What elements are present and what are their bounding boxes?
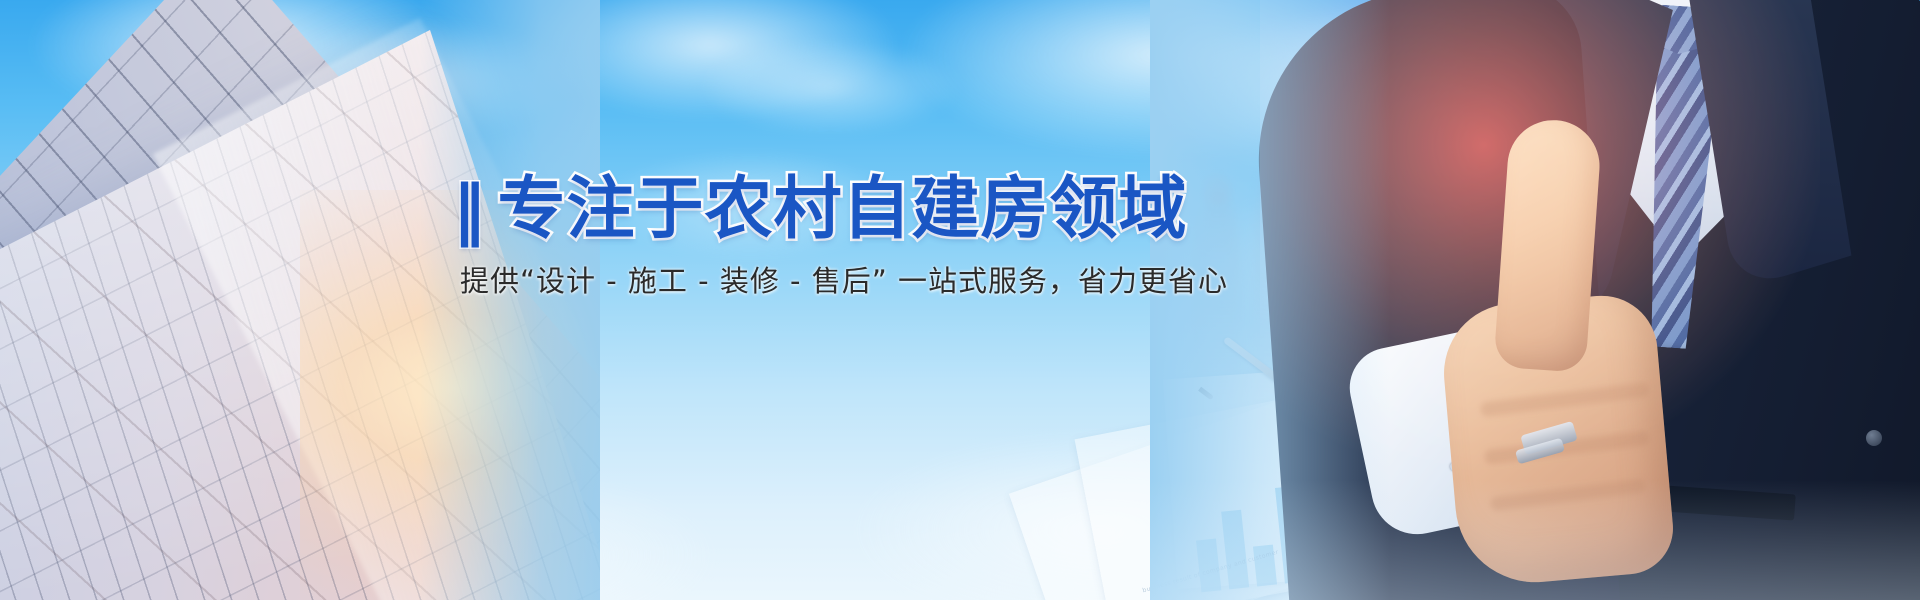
promo-banner: business result of company and customer … [0,0,1920,600]
cloud-shape [700,40,960,135]
suit-button [1866,430,1882,446]
page-title: 专注于农村自建房领域 [498,176,1188,244]
businessman-photo [1150,0,1920,600]
banner-copy-block: ‖ 专注于农村自建房领域 提供“设计 - 施工 - 装修 - 售后” 一站式服务… [460,176,1180,299]
double-bar-mark-icon: ‖ [453,177,484,243]
building-fade-mask [420,0,600,600]
banner-subtitle: 提供“设计 - 施工 - 装修 - 售后” 一站式服务，省力更省心 [460,264,1180,299]
skyscraper-photo [0,0,600,600]
thumbs-up-icon [1493,117,1602,373]
headline-row: ‖ 专注于农村自建房领域 [460,176,1180,244]
